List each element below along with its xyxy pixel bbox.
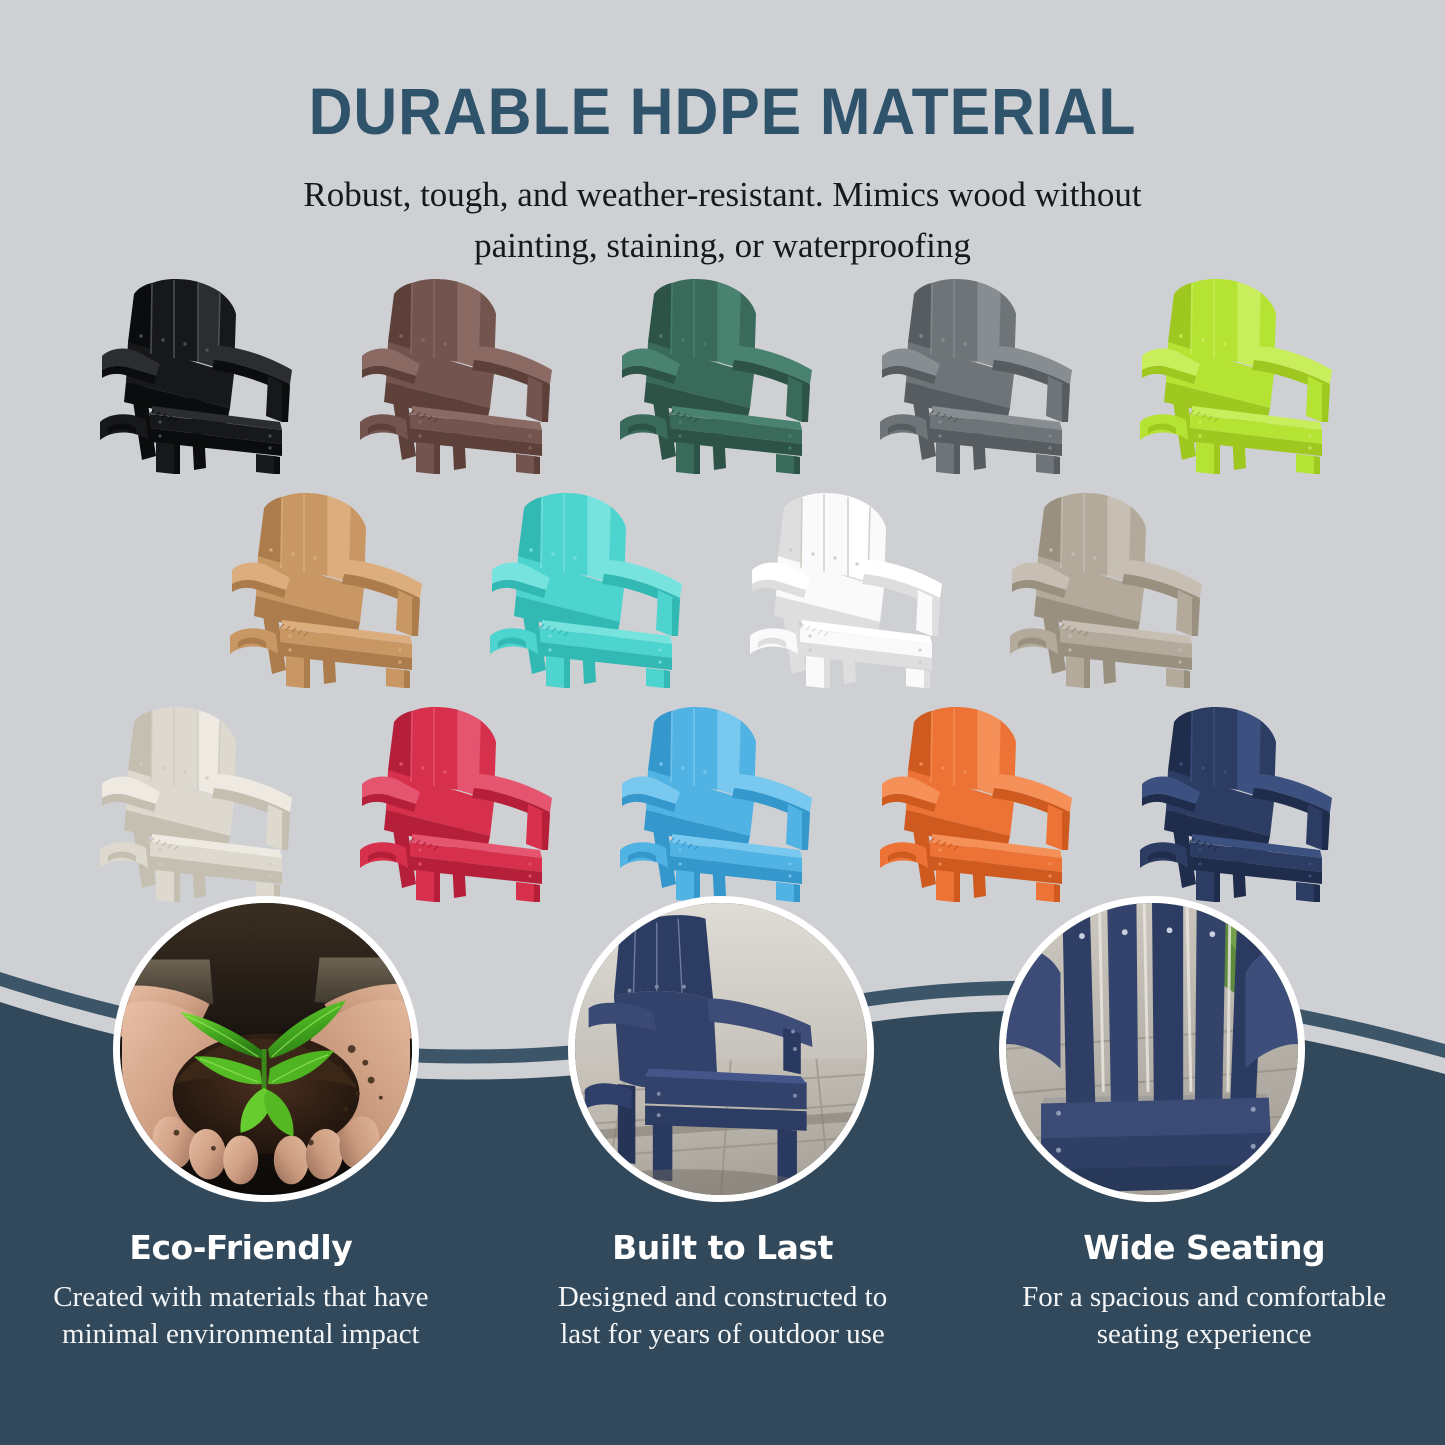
back-slat-1 [1062,903,1095,1113]
caption-title: Eco-Friendly [14,1228,468,1267]
caption-line-1: Created with materials that have [53,1281,428,1313]
feature-image-built-to-last [568,896,874,1202]
header-block: DURABLE HDPE MATERIAL Robust, tough, and… [0,0,1445,272]
chair-back-fan [614,915,713,1000]
chair-arm-support-right [783,1028,801,1075]
front-leg-right-side [924,670,930,688]
chair-swatch-dark-green[interactable] [606,262,840,476]
chair-swatch-gray-taupe[interactable] [996,476,1230,690]
arm-post-right-side [1062,384,1070,422]
arm-post-right-side [542,384,550,422]
feature-captions: Eco-Friendly Created with materials that… [0,1228,1445,1353]
caption-body: Designed and constructed to last for yea… [496,1279,950,1353]
front-leg-right [906,668,924,688]
chair-swatch-orange[interactable] [866,690,1100,904]
arm-post-right [526,804,544,850]
chair-swatch-teak[interactable] [216,476,450,690]
arm-post-right [1176,590,1194,636]
chair-teak [224,484,442,690]
back-slat-2 [542,493,564,572]
arm-post-right [786,376,804,422]
back-slat-2 [282,493,304,572]
page-subtitle: Robust, tough, and weather-resistant. Mi… [0,144,1445,272]
back-slat-3 [174,279,198,362]
feature-image-wide-seating [999,896,1305,1202]
back-slat-3 [564,493,588,576]
back-slat-2 [1107,903,1138,1113]
front-leg-left-side [954,444,960,474]
swatch-row-2 [0,476,1445,690]
chair-body [1140,707,1332,902]
front-leg-left [1066,656,1084,688]
arm-post-right [396,590,414,636]
subtitle-line-1: Robust, tough, and weather-resistant. Mi… [303,175,1141,214]
back-slat-2 [412,279,434,358]
chair-swatch-ivory[interactable] [86,690,320,904]
back-slat-3 [1214,279,1238,362]
front-leg-left [156,442,174,474]
front-leg-left-side [1214,444,1220,474]
front-leg-left [416,442,434,474]
chair-orange [874,698,1092,904]
front-leg-right-side [404,670,410,688]
back-slat-2 [932,279,954,358]
front-leg-left-side [1084,658,1090,688]
color-swatch-grid [0,262,1445,904]
caption-title: Wide Seating [977,1228,1431,1267]
front-leg-left [806,656,824,688]
chair-navy-blue [1134,698,1352,904]
front-leg-right-side [664,670,670,688]
arm-post-right-side [1322,812,1330,850]
chair-swatch-black[interactable] [86,262,320,476]
back-slat-2 [1062,493,1084,572]
front-leg-right [1036,454,1054,474]
caption-body: Created with materials that have minimal… [14,1279,468,1353]
chair-body [360,279,552,474]
chair-swatch-brown[interactable] [346,262,580,476]
page-title: DURABLE HDPE MATERIAL [58,0,1387,144]
chair-ivory [94,698,312,904]
caption-line-1: Designed and constructed to [558,1281,887,1313]
chair-dark-green [614,270,832,476]
infographic-canvas: DURABLE HDPE MATERIAL Robust, tough, and… [0,0,1445,1445]
back-slat-3 [954,279,978,362]
arm-post-right-side [802,812,810,850]
back-slat-2 [672,707,694,786]
front-leg-left-side [564,658,570,688]
chair-body [620,707,812,902]
front-leg-right [776,454,794,474]
back-slat-3 [1214,707,1238,790]
back-slat-3 [1084,493,1108,576]
back-slat-2 [672,279,694,358]
front-leg-right-side [1184,670,1190,688]
front-leg-left-side [824,658,830,688]
front-leg-right [386,668,404,688]
chair-brown [354,270,572,476]
back-slat-3 [434,279,458,362]
arm-post-right-side [1192,598,1200,636]
chair-body [230,493,422,688]
front-leg-left [546,656,564,688]
caption-line-2: seating experience [1097,1318,1312,1350]
arm-post-right [1046,376,1064,422]
back-slat-2 [932,707,954,786]
chair-swatch-navy-blue[interactable] [1126,690,1360,904]
back-slat-3 [694,279,718,362]
arm-post-right [1306,804,1324,850]
chair-body [1140,279,1332,474]
caption-line-2: minimal environmental impact [62,1318,420,1350]
back-slat-3 [304,493,328,576]
back-slat-3 [174,707,198,790]
back-slat-2 [152,279,174,358]
back-slat-3 [824,493,848,576]
front-leg-right [1166,668,1184,688]
chair-body [100,707,292,902]
caption-built-to-last: Built to Last Designed and constructed t… [482,1228,964,1353]
arm-post-right-side [282,812,290,850]
arm-post-right-side [1322,384,1330,422]
arm-post-right [786,804,804,850]
chair-body [620,279,812,474]
arm-post-right-side [542,812,550,850]
arm-post-right [526,376,544,422]
caption-wide-seating: Wide Seating For a spacious and comforta… [963,1228,1445,1353]
back-slat-3 [694,707,718,790]
back-slat-2 [802,493,824,572]
front-leg-left-side [174,444,180,474]
arm-post-right-side [802,384,810,422]
chair-light-blue [614,698,832,904]
arm-post-right [1306,376,1324,422]
feature-circles [0,896,1445,1226]
arm-post-right-side [932,598,940,636]
chair-lime-green [1134,270,1352,476]
chair-swatch-light-blue[interactable] [606,690,840,904]
chair-body [880,279,1072,474]
chair-swatch-turquoise[interactable] [476,476,710,690]
back-slat-3 [434,707,458,790]
chair-swatch-red[interactable] [346,690,580,904]
chair-red [354,698,572,904]
back-slat-2 [1192,707,1214,786]
front-leg-left [1196,442,1214,474]
chair-gray [874,270,1092,476]
front-leg-left-side [304,658,310,688]
back-slat-3 [954,707,978,790]
chair-swatch-gray[interactable] [866,262,1100,476]
arm-post-right [266,376,284,422]
chair-body [490,493,682,688]
arm-post-right-side [412,598,420,636]
feature-image-eco-friendly [113,896,419,1202]
back-slat-3 [1152,903,1183,1113]
caption-line-2: last for years of outdoor use [560,1318,885,1350]
front-leg-right [256,454,274,474]
chair-body [1010,493,1202,688]
caption-title: Built to Last [496,1228,950,1267]
arm-post-right [916,590,934,636]
front-leg-right-side [1054,456,1060,474]
chair-swatch-white[interactable] [736,476,970,690]
caption-body: For a spacious and comfortable seating e… [977,1279,1431,1353]
arm-post-right [1046,804,1064,850]
subtitle-line-2: painting, staining, or waterproofing [474,226,971,265]
arm-post-right [266,804,284,850]
chair-body [360,707,552,902]
front-leg-right-side [534,456,540,474]
chair-body [100,279,292,474]
front-leg-left [936,442,954,474]
back-slat-2 [412,707,434,786]
swatch-row-3 [0,690,1445,904]
front-leg-right-side [1314,456,1320,474]
front-leg-left-side [694,444,700,474]
arm-post-right [656,590,674,636]
chair-gray-taupe [1004,484,1222,690]
arm-post-right-side [672,598,680,636]
chair-turquoise [484,484,702,690]
chair-black [94,270,312,476]
chair-body [880,707,1072,902]
front-leg-right-side [794,456,800,474]
front-leg-right [516,454,534,474]
front-leg-right [1296,454,1314,474]
swatch-row-1 [0,262,1445,476]
front-leg-right [646,668,664,688]
front-leg-left [676,442,694,474]
chair-swatch-lime-green[interactable] [1126,262,1360,476]
front-leg-right-side [274,456,280,474]
chair-body [750,493,942,688]
caption-eco-friendly: Eco-Friendly Created with materials that… [0,1228,482,1353]
front-leg-left-side [434,444,440,474]
chair-white [744,484,962,690]
front-leg-left [286,656,304,688]
back-slat-2 [1192,279,1214,358]
back-slat-2 [152,707,174,786]
arm-post-right-side [282,384,290,422]
caption-line-1: For a spacious and comfortable [1022,1281,1386,1313]
arm-post-right-side [1062,812,1070,850]
